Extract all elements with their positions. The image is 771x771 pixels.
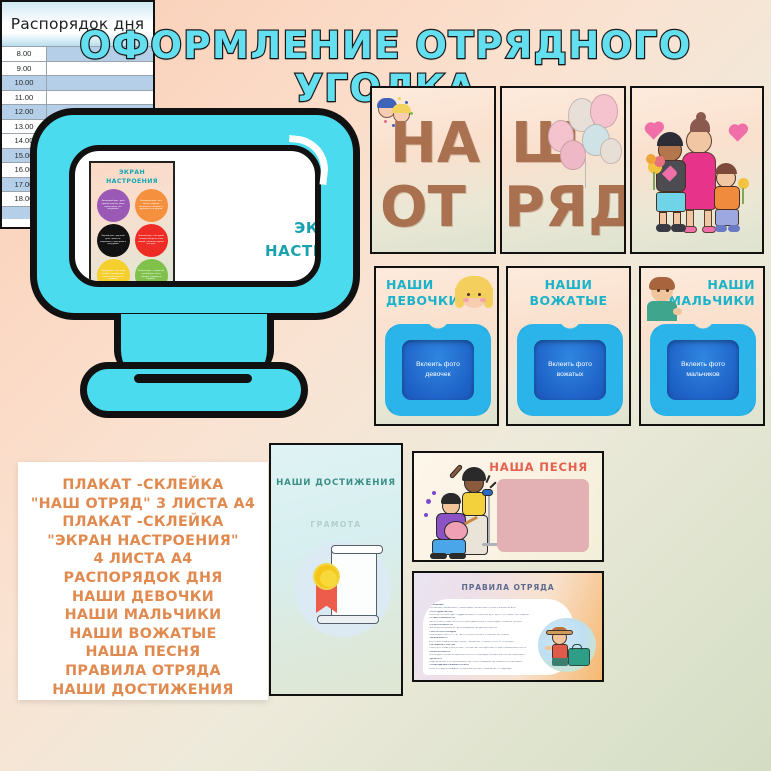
checklist-item: НАШИ ДОСТИЖЕНИЯ (26, 681, 260, 700)
achievements-panel: НАШИ ДОСТИЖЕНИЯ ГРАМОТА (269, 443, 403, 696)
checklist-item: ПЛАКАТ -СКЛЕЙКА (26, 513, 260, 532)
poster-circle: Фиолетовый цвет - день прошёл отлично, у… (97, 189, 130, 222)
checklist-item: ПРАВИЛА ОТРЯДА (26, 662, 260, 681)
rules-line: ЗНАЙ И СЛЕДУЙ ОБЩЕМУ ПРАВИЛАМ ЛАГЕРЯ, УВ… (429, 668, 567, 671)
poster-circle-grid: Фиолетовый цвет - день прошёл отлично, у… (95, 189, 169, 287)
medal-icon (313, 563, 340, 590)
checklist-item: ПЛАКАТ -СКЛЕЙКА (26, 476, 260, 495)
checklist-item: 4 ЛИСТА А4 (26, 550, 260, 569)
banner-panel-family (630, 86, 764, 254)
certificate-top-roll (331, 545, 383, 554)
checklist-item: "ЭКРАН НАСТРОЕНИЯ" (26, 532, 260, 551)
mood-screen-poster: ЭКРАН НАСТРОЕНИЯ Фиолетовый цвет - день … (89, 161, 175, 283)
photo-panel-boys: НАШИ МАЛЬЧИКИ Вклеить фото мальчиков (639, 266, 765, 426)
camper-illustration-icon (538, 618, 596, 672)
poster-circle: Жёлтый цвет - всё было спокойно, ровный … (97, 259, 130, 287)
poster-circle: Оранжевый цвет - мне весело, хорошее нас… (135, 189, 168, 222)
banner-panel-otryad: Ш РЯД (500, 86, 626, 254)
rules-title: ПРАВИЛА ОТРЯДА (414, 583, 602, 592)
checklist-item: "НАШ ОТРЯД" 3 ЛИСТА А4 (26, 495, 260, 514)
monitor-base-notch (134, 374, 252, 383)
balloons-icon (546, 94, 626, 180)
girls-placeholder-line1: Вклеить фото (416, 361, 460, 368)
boys-photo-placeholder[interactable]: Вклеить фото мальчиков (667, 340, 739, 400)
banner-word-ryad: РЯД (504, 180, 626, 236)
leaders-placeholder-line2: вожатых (557, 371, 584, 378)
poster-circle: Чёрный цвет - грустный день, ничего не п… (97, 224, 130, 257)
family-illustration-icon (646, 110, 752, 242)
rules-panel: ПРАВИЛА ОТРЯДА • УВАЖЕНИЕ ПРОЯВЛЯЙ УВАЖЕ… (412, 571, 604, 682)
photo-panel-leaders: НАШИ ВОЖАТЫЕ Вклеить фото вожатых (506, 266, 631, 426)
leaders-placeholder-line1: Вклеить фото (548, 361, 592, 368)
monitor-base (80, 362, 308, 418)
monitor-illustration: ЭКРАН НАСТРОЕНИЯ Фиолетовый цвет - день … (22, 104, 367, 422)
monitor-body: ЭКРАН НАСТРОЕНИЯ Фиолетовый цвет - день … (30, 108, 360, 320)
girls-photo-frame[interactable]: Вклеить фото девочек (385, 324, 491, 416)
balloon-string (585, 154, 586, 188)
poster-title-line1: ЭКРАН (95, 168, 169, 177)
certificate-bottom-roll (317, 615, 379, 624)
girls-placeholder-line2: девочек (425, 371, 450, 378)
girl-avatar-icon (455, 276, 493, 310)
certificate-paper (331, 547, 377, 623)
poster-title-line2: НАСТРОЕНИЯ (95, 177, 169, 186)
photo-panel-girls: НАШИ ДЕВОЧКИ Вклеить фото девочек (374, 266, 499, 426)
certificate-icon (295, 541, 391, 637)
monitor-caption: ЭКРАН НАСТРОЕНИЯ (265, 217, 321, 263)
leaders-heading-line1: НАШИ (508, 277, 629, 293)
poster-circle: Красный цвет - был яркий насыщенный день… (135, 224, 168, 257)
checklist-item: НАША ПЕСНЯ (26, 643, 260, 662)
checklist-item: НАШИ МАЛЬЧИКИ (26, 606, 260, 625)
poster-circle: Зелёный цвет - спокойный, уютный день, в… (135, 259, 168, 287)
banner-word-na: НА (390, 116, 480, 172)
achievements-subtitle: ГРАМОТА (271, 520, 401, 529)
screen-glare-icon (285, 135, 332, 185)
monitor-caption-line2: НАСТРОЕНИЯ (265, 240, 321, 263)
song-panel: НАША ПЕСНЯ (412, 451, 604, 562)
monitor-screen: ЭКРАН НАСТРОЕНИЯ Фиолетовый цвет - день … (69, 145, 321, 287)
materials-checklist: ПЛАКАТ -СКЛЕЙКА "НАШ ОТРЯД" 3 ЛИСТА А4 П… (18, 462, 268, 700)
banner-panel-nash: НА ОТ (370, 86, 496, 254)
boys-photo-frame[interactable]: Вклеить фото мальчиков (650, 324, 756, 416)
song-lyrics-area[interactable] (497, 479, 589, 552)
girls-photo-placeholder[interactable]: Вклеить фото девочек (402, 340, 474, 400)
checklist-item: НАШИ ВОЖАТЫЕ (26, 625, 260, 644)
achievements-title: НАШИ ДОСТИЖЕНИЯ (271, 478, 401, 488)
checklist-item: НАШИ ДЕВОЧКИ (26, 588, 260, 607)
leaders-heading-line2: ВОЖАТЫЕ (508, 293, 629, 309)
banner-word-ot: ОТ (380, 180, 466, 236)
leaders-photo-placeholder[interactable]: Вклеить фото вожатых (534, 340, 606, 400)
leaders-photo-frame[interactable]: Вклеить фото вожатых (517, 324, 623, 416)
boys-placeholder-line1: Вклеить фото (681, 361, 725, 368)
leaders-panel-heading: НАШИ ВОЖАТЫЕ (508, 277, 629, 309)
checklist-item: РАСПОРЯДОК ДНЯ (26, 569, 260, 588)
monitor-caption-line1: ЭКРАН (265, 217, 321, 240)
boys-placeholder-line2: мальчиков (686, 371, 719, 378)
boy-avatar-icon (645, 278, 681, 322)
